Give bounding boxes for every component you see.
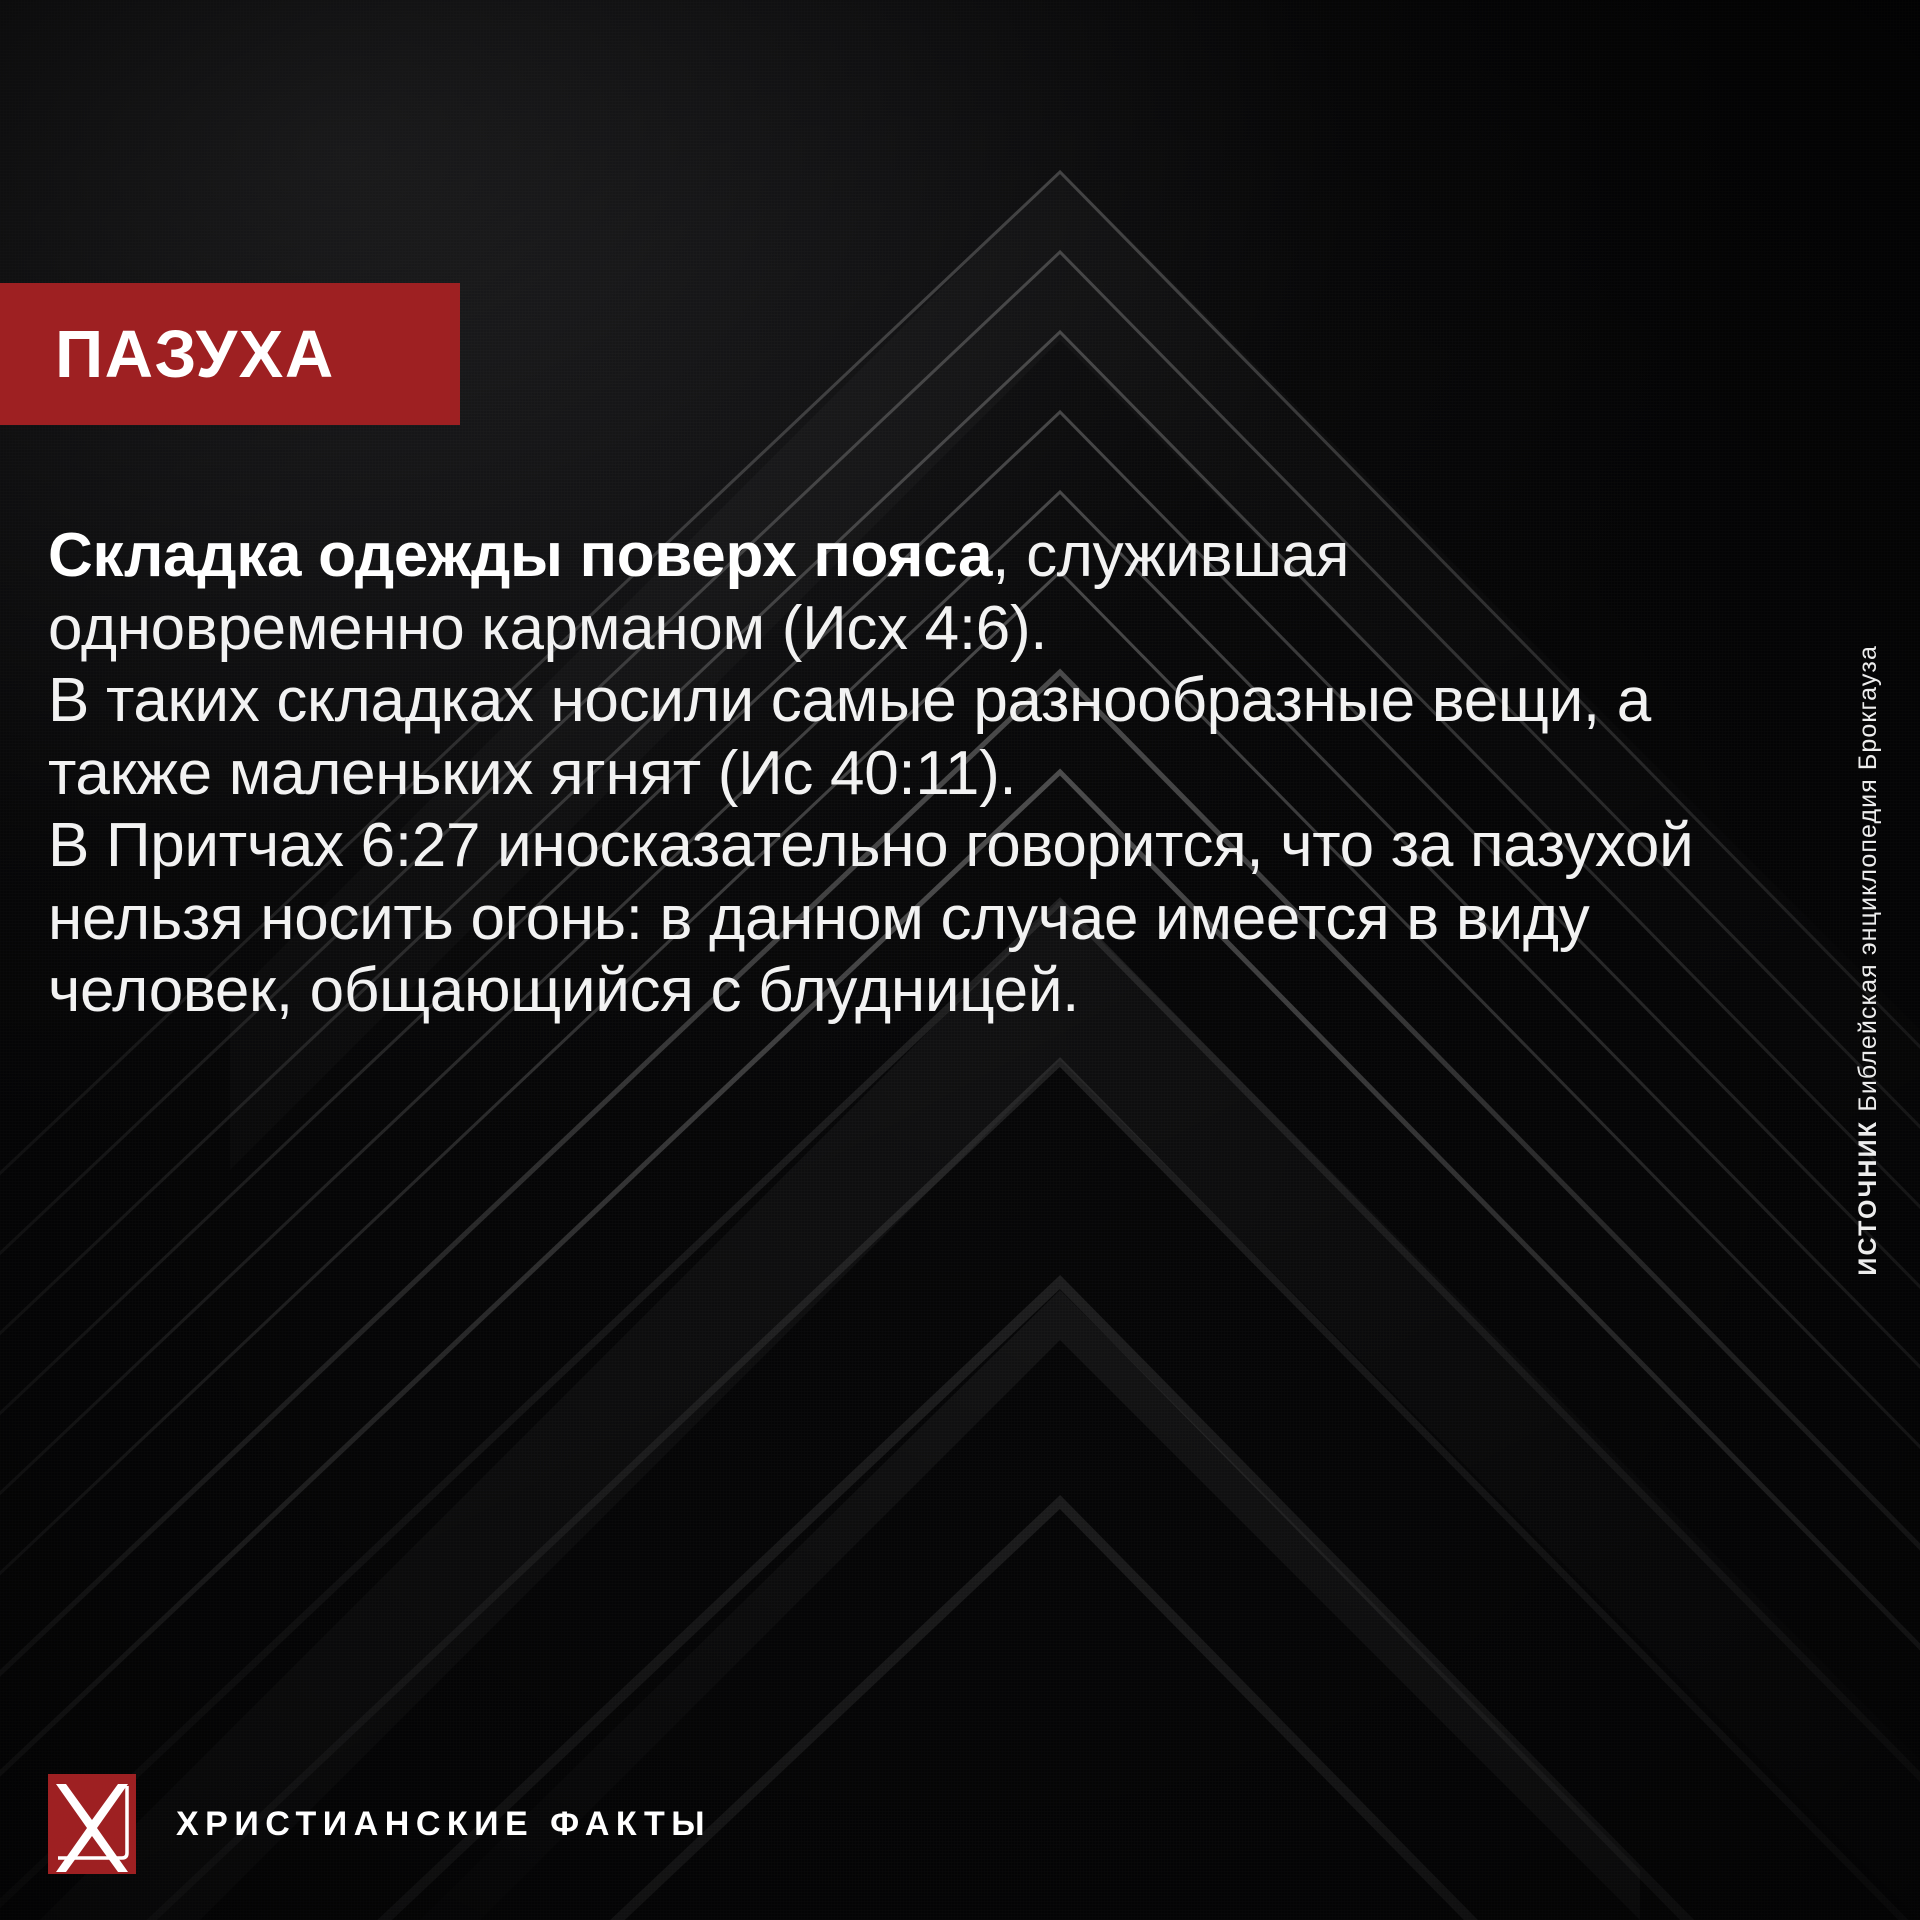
brand-name-label: ХРИСТИАНСКИЕ ФАКТЫ <box>176 1805 711 1844</box>
fact-paragraph: В таких складках носили самые разнообраз… <box>48 665 1748 810</box>
fact-paragraph: В Притчах 6:27 иносказательно говорится,… <box>48 810 1748 1028</box>
page-title: ПАЗУХА <box>55 321 335 388</box>
brand-footer: ХРИСТИАНСКИЕ ФАКТЫ <box>48 1774 711 1874</box>
fact-body: Складка одежды поверх пояса, служившая о… <box>48 520 1748 1028</box>
fact-lead-paragraph: Складка одежды поверх пояса, служившая о… <box>48 520 1748 665</box>
brand-logo-icon <box>48 1774 136 1874</box>
fact-card: ПАЗУХА Складка одежды поверх пояса, служ… <box>0 0 1920 1920</box>
fact-lead-bold: Складка одежды поверх пояса <box>48 521 992 590</box>
title-badge: ПАЗУХА <box>0 283 460 425</box>
